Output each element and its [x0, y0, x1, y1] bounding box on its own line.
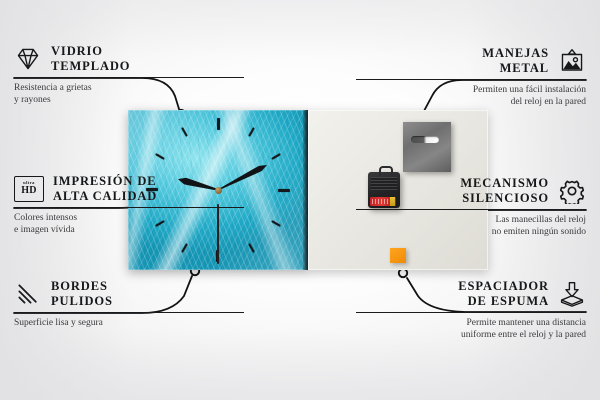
callout-title: MECANISMO SILENCIOSO: [460, 176, 549, 205]
callout-bordes-pulidos: BORDES PULIDOS Superficie lisa y segura: [14, 279, 244, 330]
callout-rule: [356, 209, 586, 210]
callout-title: VIDRIO TEMPLADO: [51, 44, 130, 73]
callout-mecanismo-silencioso: MECANISMO SILENCIOSO Las manecillas del …: [356, 176, 586, 238]
polished-edges-icon: [14, 281, 42, 307]
callout-subtitle: Las manecillas del reloj no emiten ningú…: [356, 215, 586, 238]
callout-header: ultra HD IMPRESIÓN DE ALTA CALIDAD: [14, 174, 244, 203]
callout-header: MECANISMO SILENCIOSO: [356, 176, 586, 205]
callout-rule: [14, 207, 244, 208]
picture-frame-hanger-icon: [558, 48, 586, 74]
movement-hanger-loop: [379, 166, 393, 176]
callout-rule: [14, 312, 244, 313]
callout-rule: [356, 312, 586, 313]
callout-title: BORDES PULIDOS: [51, 279, 113, 308]
callout-manejas-metal: MANEJAS METAL Permiten una fácil instala…: [356, 46, 586, 108]
callout-header: MANEJAS METAL: [356, 46, 586, 75]
callout-title: MANEJAS METAL: [482, 46, 549, 75]
hanger-plate: [403, 122, 451, 172]
endpoint-dot-espaciador: [399, 269, 407, 277]
callout-header: BORDES PULIDOS: [14, 279, 244, 308]
diamond-icon: [14, 46, 42, 72]
callout-header: VIDRIO TEMPLADO: [14, 44, 244, 73]
callout-subtitle: Colores intensos e imagen vívida: [14, 213, 244, 236]
callout-subtitle: Resistencia a grietas y rayones: [14, 83, 244, 106]
hd-badge-lower: HD: [21, 186, 37, 196]
callout-rule: [356, 79, 586, 80]
arrow-down-foam-icon: [558, 281, 586, 307]
callout-subtitle: Permiten una fácil instalación del reloj…: [356, 85, 586, 108]
product-feature-infographic: VIDRIO TEMPLADO Resistencia a grietas y …: [0, 0, 600, 400]
callout-title: ESPACIADOR DE ESPUMA: [458, 279, 549, 308]
foam-spacer: [390, 248, 406, 263]
callout-impresion-alta-calidad: ultra HD IMPRESIÓN DE ALTA CALIDAD Color…: [14, 174, 244, 236]
gear-icon: [558, 178, 586, 204]
callout-title: IMPRESIÓN DE ALTA CALIDAD: [53, 174, 157, 203]
callout-vidrio-templado: VIDRIO TEMPLADO Resistencia a grietas y …: [14, 44, 244, 106]
callout-espaciador-espuma: ESPACIADOR DE ESPUMA Permite mantener un…: [356, 279, 586, 341]
hanger-slot: [411, 136, 439, 143]
callout-header: ESPACIADOR DE ESPUMA: [356, 279, 586, 308]
callout-subtitle: Superficie lisa y segura: [14, 318, 244, 330]
ultra-hd-badge-icon: ultra HD: [14, 176, 44, 202]
callout-subtitle: Permite mantener una distancia uniforme …: [356, 318, 586, 341]
callout-rule: [14, 77, 244, 78]
